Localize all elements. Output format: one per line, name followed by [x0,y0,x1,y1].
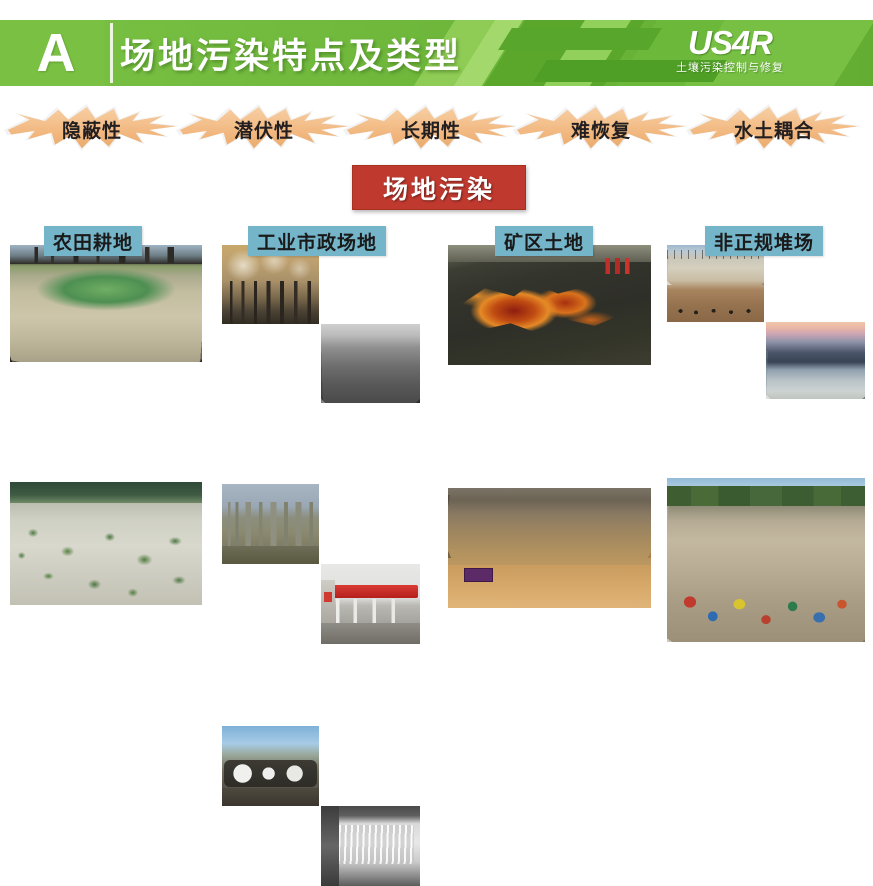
logo-wordmark: US4R [665,26,795,60]
characteristic-tag-label: 难恢复 [517,106,685,152]
characteristic-tag: 水土耦合 [690,106,858,152]
station-forecourt [321,623,420,644]
photo-open-pit-mine [448,488,651,608]
characteristic-tag-label: 长期性 [347,106,515,152]
section-badge: A [8,20,104,86]
photo-chemical-refinery [222,484,319,564]
section-badge-letter: A [37,26,76,80]
photo-gas-station [321,564,420,644]
characteristic-tag-label: 水土耦合 [690,106,858,152]
logo-subtitle: 土壤污染控制与修复 [665,61,795,75]
page-title: 场地污染特点及类型 [120,20,462,86]
category-label-text: 农田耕地 [53,228,133,255]
characteristic-tag: 难恢复 [517,106,685,152]
characteristic-tag-label: 潜伏性 [180,106,348,152]
category-label: 矿区土地 [495,226,593,256]
photo-smokestacks [222,245,319,324]
photo-landfill-panorama [667,478,865,642]
category-label-text: 工业市政场地 [257,228,377,255]
brand-logo: US4R 土壤污染控制与修复 [665,26,795,84]
photo-grid [10,245,202,488]
photo-flooded-field [10,482,202,605]
photo-mine-tailings [448,245,651,365]
site-sign-icon [464,568,492,582]
header-divider [110,23,113,83]
characteristic-tag-row: 隐蔽性 潜伏性 长期性 难恢复 水土耦合 [0,106,873,152]
photo-grid [222,245,420,488]
central-banner-label: 场地污染 [383,170,495,206]
category-label: 非正规堆场 [705,226,823,256]
category-label: 工业市政场地 [248,226,386,256]
characteristic-tag: 潜伏性 [180,106,348,152]
photo-tanker-trucks [222,726,319,806]
category-columns: 农田耕地 工业市政场地 矿区土地 [0,226,873,488]
characteristic-tag-label: 隐蔽性 [8,106,176,152]
category-label: 农田耕地 [44,226,142,256]
photo-dump-with-birds [667,245,764,322]
photo-wastewater-basin [321,806,420,886]
photo-cracked-farmland [10,245,202,362]
category-label-text: 矿区土地 [504,228,584,255]
characteristic-tag: 长期性 [347,106,515,152]
photo-grid [448,245,651,488]
photo-grid [667,245,865,488]
page-header: A 场地污染特点及类型 US4R 土壤污染控制与修复 [0,20,873,86]
photo-demolition-rubble [321,324,420,403]
treeline-icon [667,486,865,506]
photo-waste-hillside-dusk [766,322,865,399]
workers-icon [602,258,634,274]
category-label-text: 非正规堆场 [714,228,814,255]
central-banner: 场地污染 [352,165,526,210]
characteristic-tag: 隐蔽性 [8,106,176,152]
station-sign-icon [321,580,335,624]
